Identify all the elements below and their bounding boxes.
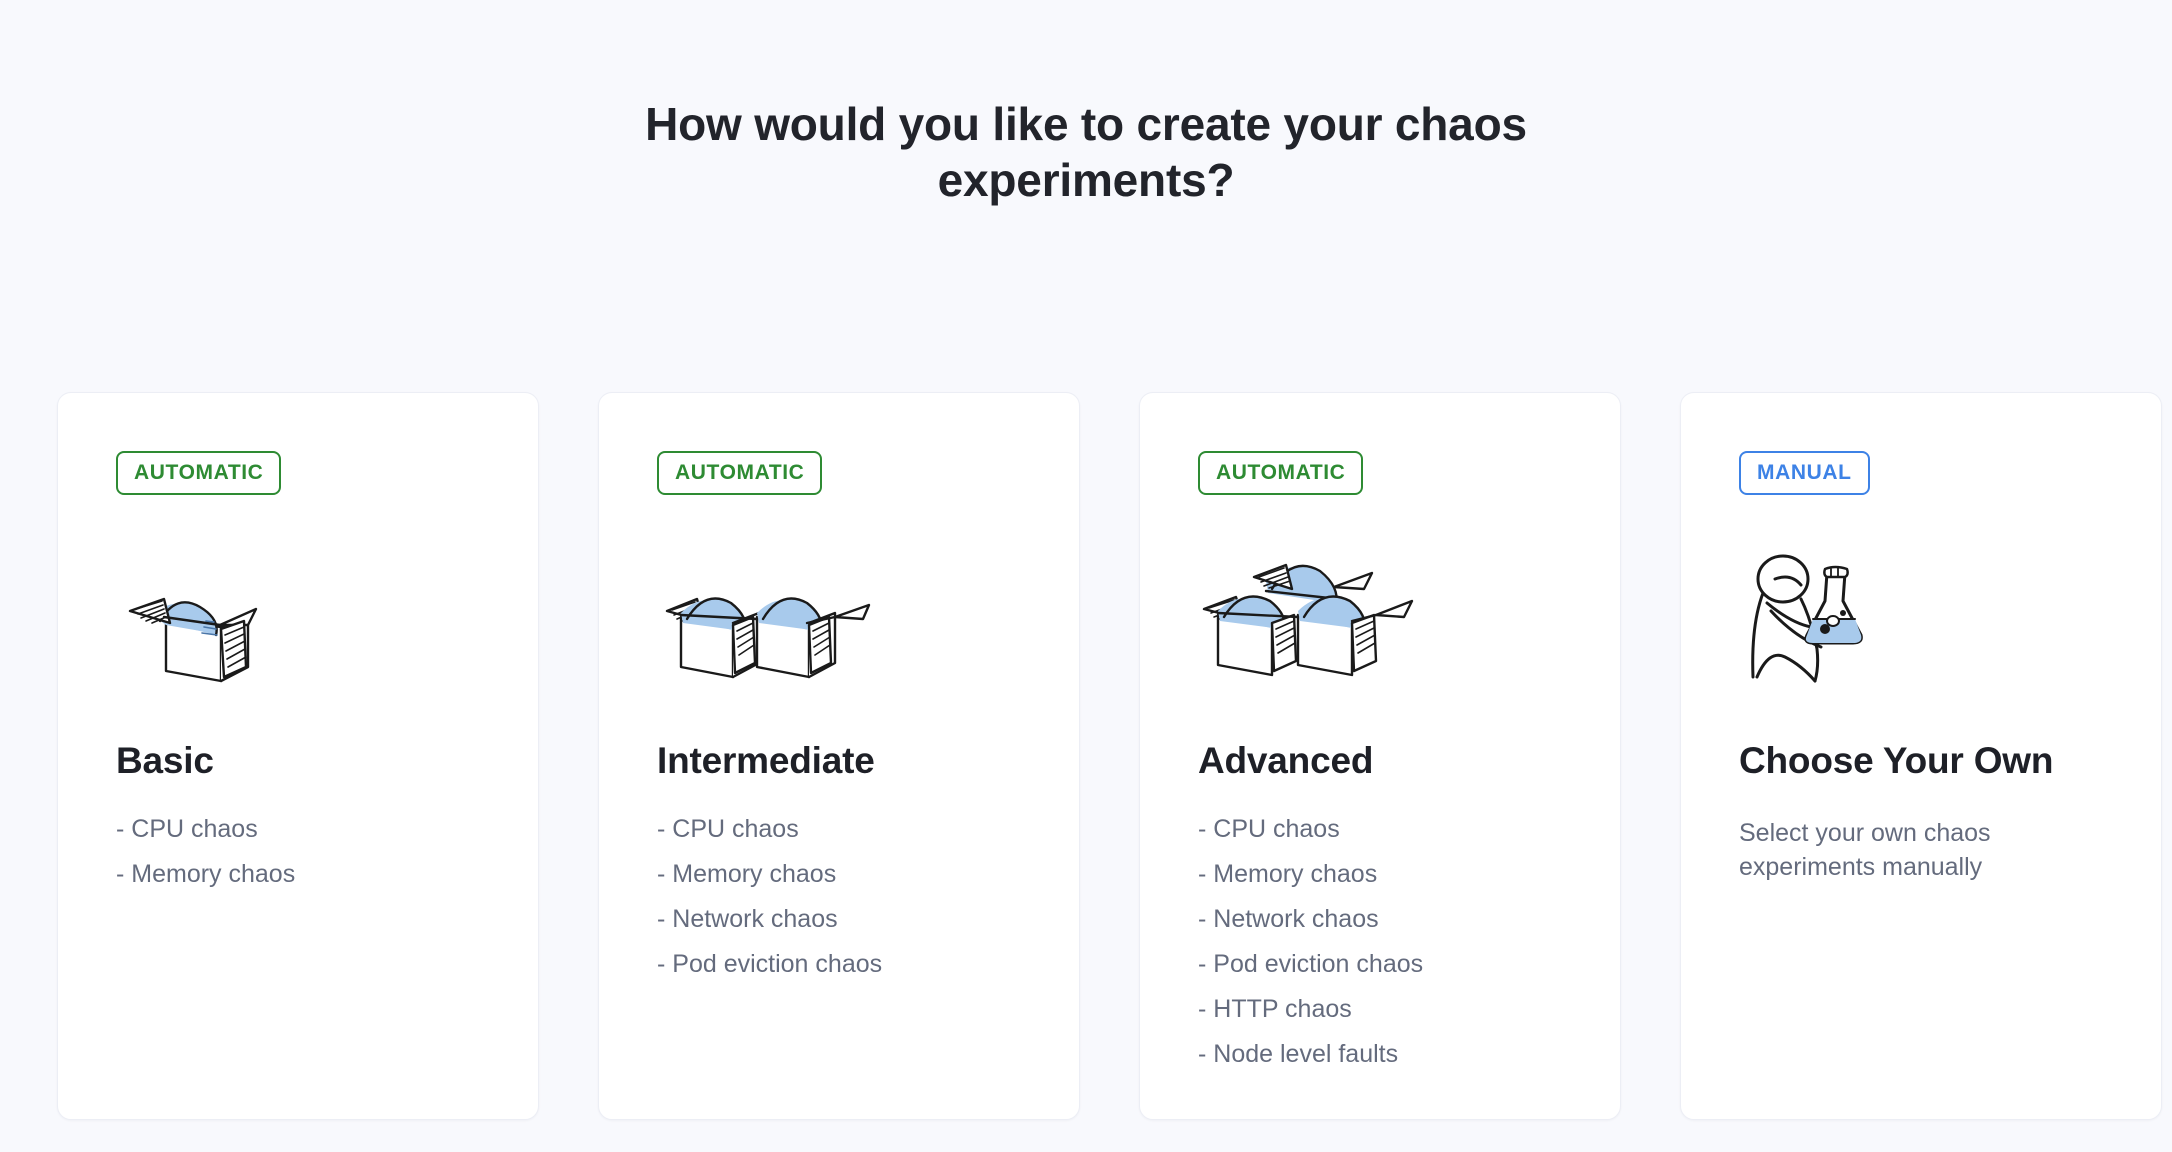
list-item: - CPU chaos <box>116 814 538 859</box>
experiment-mode-card-choose-your-own[interactable]: MANUAL <box>1680 392 2162 1120</box>
status-badge: MANUAL <box>1739 451 1870 495</box>
list-item: - Pod eviction chaos <box>1198 949 1620 994</box>
list-item: - Memory chaos <box>657 859 1079 904</box>
card-description: Select your own chaos experiments manual… <box>1739 782 2029 885</box>
card-title: Advanced <box>1198 689 1620 782</box>
card-title: Basic <box>116 689 538 782</box>
list-item: - Memory chaos <box>1198 859 1620 904</box>
one-box-icon <box>116 539 538 689</box>
experiment-mode-card-advanced[interactable]: AUTOMATIC <box>1139 392 1621 1120</box>
create-experiment-page: How would you like to create your chaos … <box>0 0 2172 1152</box>
card-title: Intermediate <box>657 689 1079 782</box>
status-badge: AUTOMATIC <box>116 451 281 495</box>
status-badge: AUTOMATIC <box>657 451 822 495</box>
experiment-mode-card-basic[interactable]: AUTOMATIC <box>57 392 539 1120</box>
list-item: - CPU chaos <box>1198 814 1620 859</box>
list-item: - Memory chaos <box>116 859 538 904</box>
list-item: - Network chaos <box>1198 904 1620 949</box>
list-item: - Node level faults <box>1198 1039 1620 1084</box>
status-badge: AUTOMATIC <box>1198 451 1363 495</box>
list-item: - Pod eviction chaos <box>657 949 1079 994</box>
scientist-flask-icon <box>1739 539 2161 689</box>
three-boxes-icon <box>1198 539 1620 689</box>
two-boxes-icon <box>657 539 1079 689</box>
list-item: - HTTP chaos <box>1198 994 1620 1039</box>
page-title: How would you like to create your chaos … <box>586 0 1586 208</box>
chaos-type-list: - CPU chaos - Memory chaos - Network cha… <box>657 782 1079 994</box>
chaos-type-list: - CPU chaos - Memory chaos <box>116 782 538 904</box>
list-item: - Network chaos <box>657 904 1079 949</box>
list-item: - CPU chaos <box>657 814 1079 859</box>
experiment-mode-card-intermediate[interactable]: AUTOMATIC <box>598 392 1080 1120</box>
experiment-mode-card-list: AUTOMATIC <box>57 392 2162 1120</box>
chaos-type-list: - CPU chaos - Memory chaos - Network cha… <box>1198 782 1620 1084</box>
card-title: Choose Your Own <box>1739 689 2161 782</box>
